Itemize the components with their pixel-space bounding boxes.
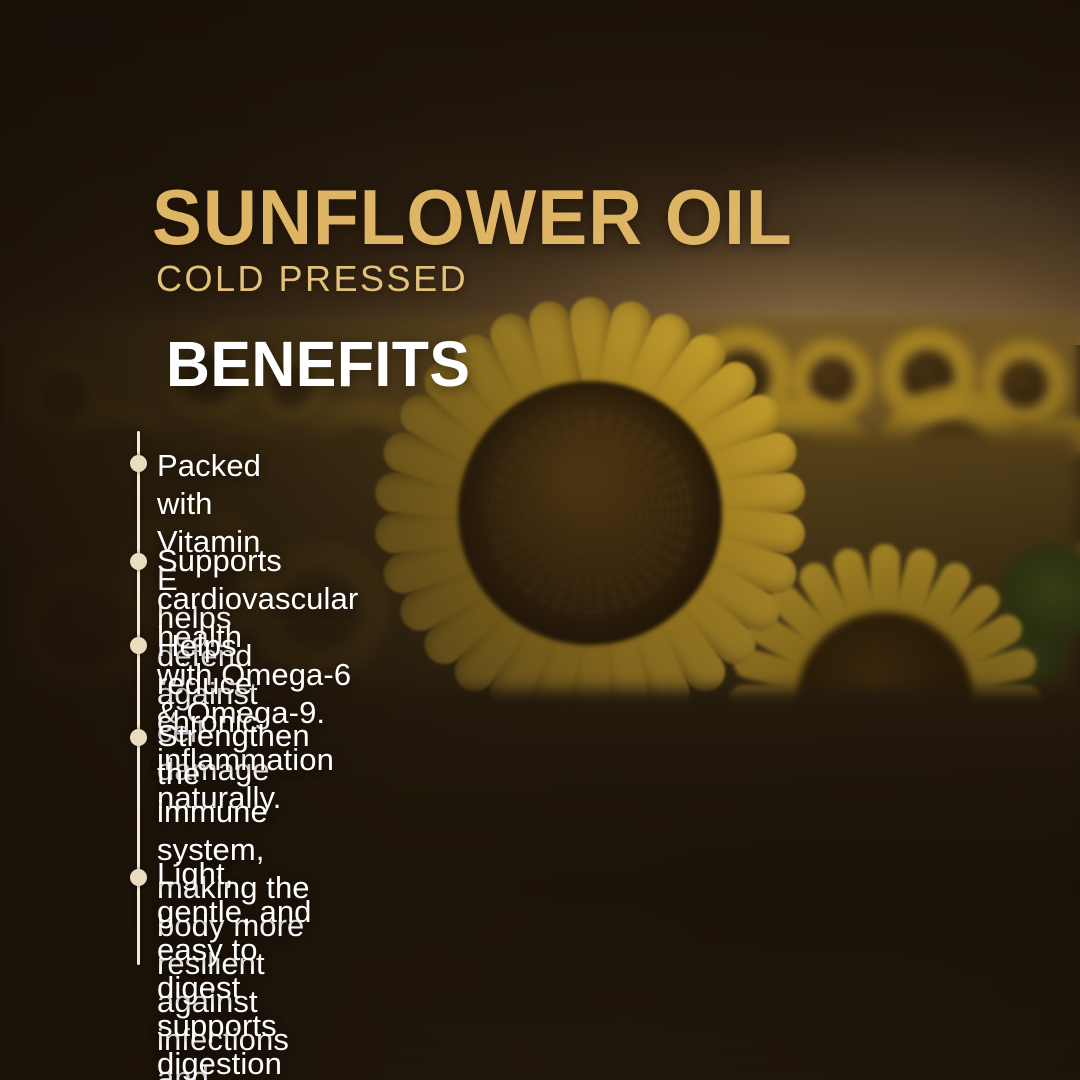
poster-content: SUNFLOWER OIL COLD PRESSED BENEFITS Pack… <box>0 0 1080 1080</box>
benefit-text: Light, gentle, and easy to digest suppor… <box>157 855 332 1080</box>
bullet-dot-icon <box>130 729 147 746</box>
bullet-dot-icon <box>130 553 147 570</box>
bullet-dot-icon <box>130 455 147 472</box>
sunflower-oil-benefits-poster: SUNFLOWER OIL COLD PRESSED BENEFITS Pack… <box>0 0 1080 1080</box>
bullet-dot-icon <box>130 637 147 654</box>
benefits-list: Packed with Vitamin E helps defend again… <box>0 0 1080 1080</box>
bullet-dot-icon <box>130 869 147 886</box>
